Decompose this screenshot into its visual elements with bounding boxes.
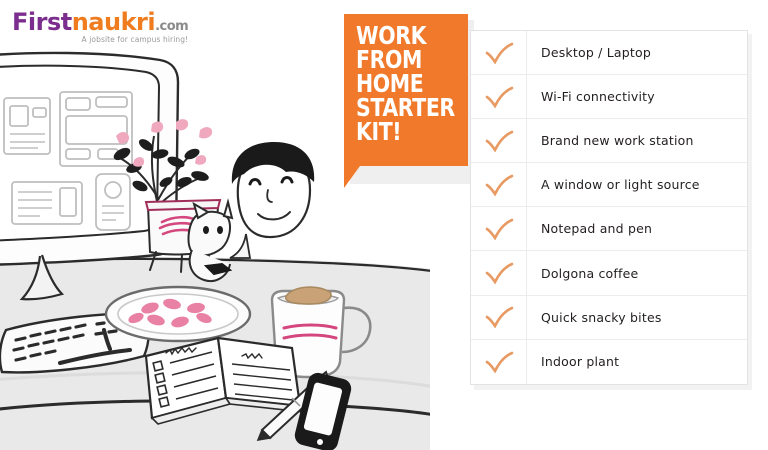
check-icon [471,163,527,206]
brand-logo[interactable]: Firstnaukri.com A jobsite for campus hir… [12,10,188,44]
checklist-row[interactable]: Dolgona coffee [471,251,747,295]
check-icon [471,31,527,74]
banner-line-5: KIT! [356,120,445,144]
brand-logo-wordmark: Firstnaukri.com [12,10,188,34]
brand-logo-com: .com [155,19,188,34]
checklist-item-label: Brand new work station [527,133,747,148]
banner-title: WORK FROM HOME STARTER KIT! [356,24,445,144]
brand-logo-first: First [12,8,72,36]
checklist-item-label: Quick snacky bites [527,310,747,325]
checklist-row[interactable]: Quick snacky bites [471,296,747,340]
checklist-item-label: A window or light source [527,177,747,192]
checklist-item-label: Notepad and pen [527,221,747,236]
checklist-table: Desktop / Laptop Wi-Fi connectivity Bran… [470,30,748,385]
checklist-row[interactable]: A window or light source [471,163,747,207]
brand-tagline: A jobsite for campus hiring! [12,36,188,44]
check-icon [471,119,527,162]
work-from-home-banner: WORK FROM HOME STARTER KIT! [344,14,468,178]
checklist-row[interactable]: Indoor plant [471,340,747,384]
checklist-item-label: Dolgona coffee [527,266,747,281]
checklist-row[interactable]: Brand new work station [471,119,747,163]
plate-of-snacks [106,287,250,341]
person-face [230,142,314,258]
checklist-item-label: Wi-Fi connectivity [527,89,747,104]
check-icon [471,340,527,384]
checklist-item-label: Indoor plant [527,354,747,369]
checklist-item-label: Desktop / Laptop [527,45,747,60]
brand-logo-naukri: naukri [72,8,155,36]
checklist-row[interactable]: Notepad and pen [471,207,747,251]
check-icon [471,207,527,250]
checklist-row[interactable]: Wi-Fi connectivity [471,75,747,119]
check-icon [471,251,527,294]
banner-tail [344,166,360,188]
poster-canvas: Firstnaukri.com A jobsite for campus hir… [0,0,768,450]
check-icon [471,75,527,118]
check-icon [471,296,527,339]
checklist-row[interactable]: Desktop / Laptop [471,31,747,75]
